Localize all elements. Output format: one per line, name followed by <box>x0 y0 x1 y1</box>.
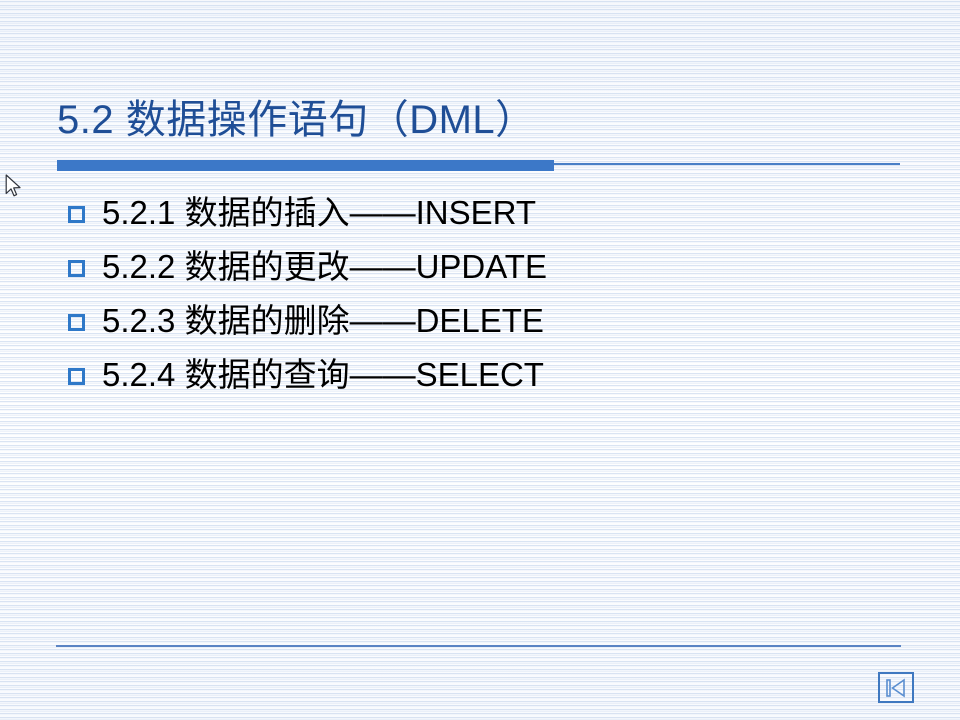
mouse-pointer-icon <box>5 174 23 200</box>
list-item[interactable]: 5.2.3 数据的删除——DELETE <box>68 294 908 348</box>
skip-to-first-button[interactable] <box>878 672 914 703</box>
list-item-label: 5.2.2 数据的更改——UPDATE <box>102 248 547 286</box>
presentation-slide: 5.2 数据操作语句（DML） 5.2.1 数据的插入——INSERT 5.2.… <box>0 0 960 720</box>
hollow-square-bullet-icon <box>68 206 85 223</box>
hollow-square-bullet-icon <box>68 314 85 331</box>
skip-to-first-icon <box>884 678 908 698</box>
list-item-label: 5.2.3 数据的删除——DELETE <box>102 302 544 340</box>
footer-divider <box>56 645 901 647</box>
list-item[interactable]: 5.2.2 数据的更改——UPDATE <box>68 240 908 294</box>
list-item[interactable]: 5.2.1 数据的插入——INSERT <box>68 186 908 240</box>
list-item-label: 5.2.1 数据的插入——INSERT <box>102 194 536 232</box>
title-underline-thick <box>57 160 554 171</box>
list-item-label: 5.2.4 数据的查询——SELECT <box>102 356 544 394</box>
slide-title: 5.2 数据操作语句（DML） <box>57 96 536 144</box>
title-block: 5.2 数据操作语句（DML） <box>57 96 536 144</box>
hollow-square-bullet-icon <box>68 260 85 277</box>
hollow-square-bullet-icon <box>68 368 85 385</box>
bullet-list: 5.2.1 数据的插入——INSERT 5.2.2 数据的更改——UPDATE … <box>68 186 908 402</box>
list-item[interactable]: 5.2.4 数据的查询——SELECT <box>68 348 908 402</box>
